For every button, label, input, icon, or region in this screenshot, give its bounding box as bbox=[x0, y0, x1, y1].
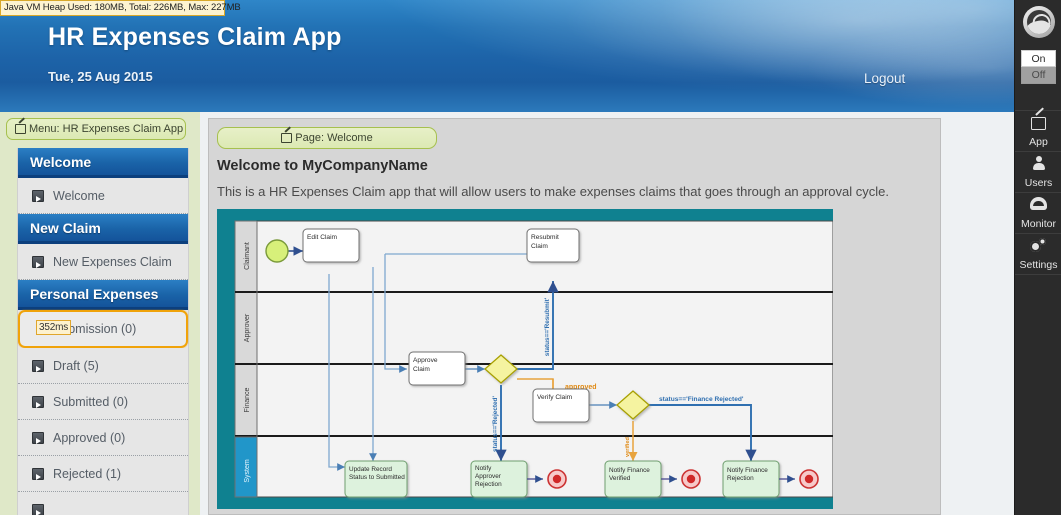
svg-text:Notify: Notify bbox=[475, 465, 492, 472]
end-event-icon bbox=[682, 470, 700, 488]
menu-group-new-claim: New Claim bbox=[18, 214, 188, 244]
bullet-arrow-icon bbox=[32, 190, 44, 202]
bullet-arrow-icon bbox=[32, 256, 44, 268]
rail-item-app[interactable]: App bbox=[1015, 110, 1061, 151]
lane-label-finance: Finance bbox=[244, 387, 251, 412]
menu-item-rejected[interactable]: Rejected (1) bbox=[18, 456, 188, 492]
svg-text:Verified: Verified bbox=[609, 475, 631, 482]
jvm-heap-status: Java VM Heap Used: 180MB, Total: 226MB, … bbox=[0, 0, 225, 16]
menu-tab-label: Menu: HR Expenses Claim App bbox=[29, 123, 183, 135]
svg-text:Notify Finance: Notify Finance bbox=[727, 467, 768, 474]
menu-item-label: Submitted (0) bbox=[53, 395, 128, 409]
menu-item-submitted[interactable]: Submitted (0) bbox=[18, 384, 188, 420]
rail-item-monitor[interactable]: Monitor bbox=[1015, 192, 1061, 233]
menu-item-label: Draft (5) bbox=[53, 359, 99, 373]
bullet-arrow-icon bbox=[32, 360, 44, 372]
page-tab[interactable]: Page: Welcome bbox=[217, 127, 437, 149]
application-frame: HR Expenses Claim App Tue, 25 Aug 2015 L… bbox=[0, 0, 1014, 515]
pencil-square-icon bbox=[15, 123, 26, 133]
bullet-arrow-icon bbox=[32, 396, 44, 408]
app-header: HR Expenses Claim App Tue, 25 Aug 2015 L… bbox=[0, 0, 1014, 112]
user-icon bbox=[1032, 156, 1046, 170]
toggle-off-button[interactable]: Off bbox=[1021, 67, 1056, 84]
menu-item-partial[interactable] bbox=[18, 492, 188, 515]
welcome-heading: Welcome to MyCompanyName bbox=[217, 158, 428, 174]
svg-text:Approve: Approve bbox=[413, 357, 438, 364]
company-swirl-logo-icon bbox=[1023, 6, 1055, 38]
header-date: Tue, 25 Aug 2015 bbox=[48, 69, 153, 84]
bullet-arrow-icon bbox=[32, 432, 44, 444]
page-title: HR Expenses Claim App bbox=[48, 23, 342, 52]
page-tab-label: Page: Welcome bbox=[295, 132, 372, 144]
menu-item-pending-submission[interactable]: submission (0) 352ms bbox=[18, 310, 188, 348]
menu-item-approved[interactable]: Approved (0) bbox=[18, 420, 188, 456]
svg-text:Update Record: Update Record bbox=[349, 466, 392, 473]
svg-text:Verify Claim: Verify Claim bbox=[537, 394, 573, 401]
bpmn-diagram: Claimant Approver Finance System bbox=[217, 209, 833, 509]
rail-item-settings[interactable]: Settings bbox=[1015, 233, 1061, 274]
menu-item-label: Rejected (1) bbox=[53, 467, 121, 481]
menu-tab[interactable]: Menu: HR Expenses Claim App bbox=[6, 118, 186, 140]
flow-label-rejected: status=='Rejected' bbox=[492, 396, 499, 452]
svg-text:Edit Claim: Edit Claim bbox=[307, 234, 338, 241]
svg-text:Approver: Approver bbox=[475, 473, 502, 480]
timing-badge: 352ms bbox=[36, 320, 71, 335]
pencil-square-icon bbox=[1031, 115, 1046, 129]
menu-item-label: Approved (0) bbox=[53, 431, 125, 445]
menu-panel: Welcome Welcome New Claim New Expenses C… bbox=[17, 148, 189, 515]
rail-item-label: Users bbox=[1015, 177, 1061, 189]
lane-label-approver: Approver bbox=[244, 313, 251, 342]
menu-item-draft[interactable]: Draft (5) bbox=[18, 348, 188, 384]
rail-item-users[interactable]: Users bbox=[1015, 151, 1061, 192]
menu-group-personal-expenses: Personal Expenses bbox=[18, 280, 188, 310]
toggle-on-button[interactable]: On bbox=[1021, 50, 1056, 67]
gears-icon bbox=[1030, 238, 1047, 253]
flow-label-resubmit: status=='Resubmit' bbox=[544, 297, 551, 356]
menu-item-label: Welcome bbox=[53, 189, 105, 203]
bpmn-diagram-svg: Claimant Approver Finance System bbox=[217, 209, 833, 509]
right-toolbar: On Off App Users Monitor Settings bbox=[1014, 0, 1061, 515]
content-panel: Page: Welcome Welcome to MyCompanyName T… bbox=[208, 118, 941, 515]
menu-item-welcome[interactable]: Welcome bbox=[18, 178, 188, 214]
body-area: Menu: HR Expenses Claim App Welcome Welc… bbox=[0, 112, 1014, 515]
gauge-icon bbox=[1030, 197, 1047, 210]
content-scroll-strip[interactable] bbox=[994, 224, 1010, 515]
start-event-icon bbox=[266, 240, 288, 262]
rail-divider bbox=[1015, 274, 1061, 275]
lane-label-claimant: Claimant bbox=[244, 242, 251, 270]
pencil-square-icon bbox=[281, 132, 292, 142]
flow-label-verified: verified bbox=[625, 436, 631, 456]
menu-item-new-expenses-claim[interactable]: New Expenses Claim bbox=[18, 244, 188, 280]
rail-item-label: Monitor bbox=[1015, 218, 1061, 230]
svg-text:Status to Submitted: Status to Submitted bbox=[349, 474, 405, 481]
menu-item-label: New Expenses Claim bbox=[53, 255, 172, 269]
end-event-icon bbox=[800, 470, 818, 488]
flow-label-finance-rejected: status=='Finance Rejected' bbox=[659, 396, 744, 403]
svg-text:Claim: Claim bbox=[413, 366, 430, 373]
menu-group-welcome: Welcome bbox=[18, 148, 188, 178]
end-event-icon bbox=[548, 470, 566, 488]
svg-text:Notify Finance: Notify Finance bbox=[609, 467, 650, 474]
svg-text:Rejection: Rejection bbox=[727, 475, 754, 482]
welcome-paragraph: This is a HR Expenses Claim app that wil… bbox=[217, 184, 917, 199]
menu-column: Menu: HR Expenses Claim App Welcome Welc… bbox=[0, 112, 200, 515]
svg-text:Claim: Claim bbox=[531, 243, 548, 250]
lane-label-system: System bbox=[244, 459, 251, 483]
svg-text:Rejection: Rejection bbox=[475, 481, 502, 488]
rail-item-label: Settings bbox=[1015, 259, 1061, 271]
rail-item-label: App bbox=[1015, 136, 1061, 148]
logout-link[interactable]: Logout bbox=[864, 71, 905, 86]
bullet-arrow-icon bbox=[32, 468, 44, 480]
bullet-arrow-icon bbox=[32, 504, 44, 515]
svg-text:Resubmit: Resubmit bbox=[531, 234, 559, 241]
